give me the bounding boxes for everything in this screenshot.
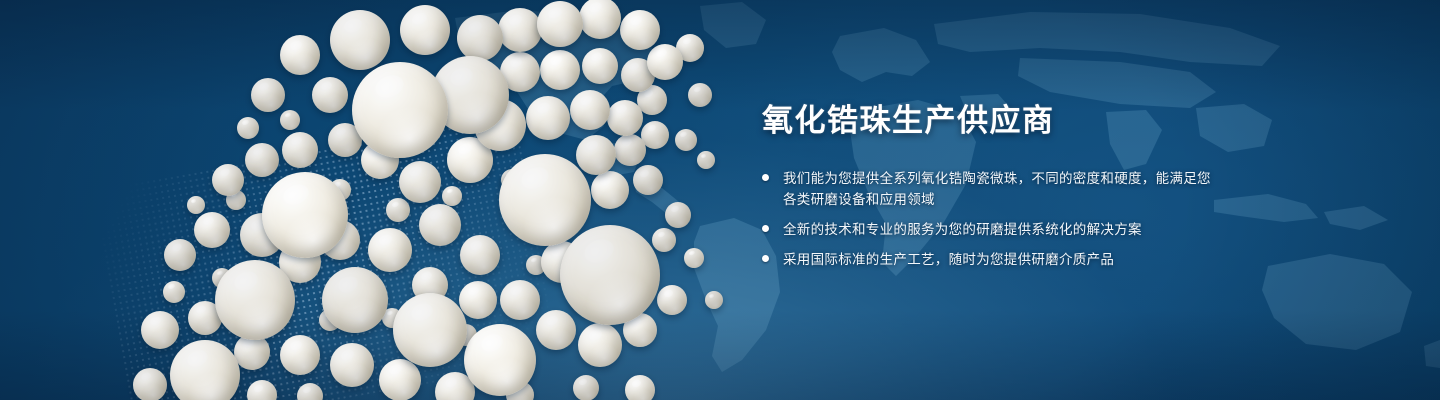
bead <box>657 285 687 315</box>
bead <box>329 179 351 201</box>
bead <box>526 255 546 275</box>
bead <box>280 110 300 130</box>
bead <box>506 381 534 400</box>
bead <box>163 281 185 303</box>
bead <box>637 85 667 115</box>
bead <box>237 117 259 139</box>
bead <box>621 58 655 92</box>
bead <box>625 375 655 400</box>
top-shade-overlay <box>0 0 1440 110</box>
bead <box>526 96 570 140</box>
feature-list: 我们能为您提供全系列氧化锆陶瓷微珠，不同的密度和硬度，能满足您各类研磨设备和应用… <box>762 168 1322 270</box>
bead <box>457 15 503 61</box>
bead <box>379 359 421 400</box>
bead <box>560 225 660 325</box>
bullet-dot-icon <box>762 255 769 262</box>
bead <box>500 280 540 320</box>
bead <box>280 335 320 375</box>
bead <box>297 383 323 400</box>
bead <box>319 309 341 331</box>
bead <box>399 161 441 203</box>
bead <box>393 293 467 367</box>
bead <box>133 368 167 400</box>
bead <box>212 164 244 196</box>
bead <box>400 5 450 55</box>
bead <box>536 310 576 350</box>
bead <box>578 323 622 367</box>
bead <box>455 324 477 346</box>
list-item: 我们能为您提供全系列氧化锆陶瓷微珠，不同的密度和硬度，能满足您各类研磨设备和应用… <box>762 168 1322 210</box>
bead <box>141 311 179 349</box>
bead <box>570 90 610 130</box>
bead <box>540 50 580 90</box>
bead <box>382 308 402 328</box>
bead <box>240 213 284 257</box>
bead <box>245 143 279 177</box>
bead <box>447 137 493 183</box>
bead <box>330 343 374 387</box>
bead <box>464 324 536 396</box>
list-item-text: 采用国际标准的生产工艺，随时为您提供研磨介质产品 <box>783 249 1114 270</box>
list-item-text: 我们能为您提供全系列氧化锆陶瓷微珠，不同的密度和硬度，能满足您各类研磨设备和应用… <box>783 168 1213 210</box>
bead <box>541 241 583 283</box>
bead <box>442 186 462 206</box>
bead <box>647 44 683 80</box>
bead <box>320 220 360 260</box>
bead <box>688 83 712 107</box>
bead <box>330 10 390 70</box>
banner-copy: 氧化锆珠生产供应商 我们能为您提供全系列氧化锆陶瓷微珠，不同的密度和硬度，能满足… <box>762 104 1322 279</box>
bead <box>262 172 348 258</box>
bead <box>499 154 591 246</box>
hero-banner: 氧化锆珠生产供应商 我们能为您提供全系列氧化锆陶瓷微珠，不同的密度和硬度，能满足… <box>0 0 1440 400</box>
page-title: 氧化锆珠生产供应商 <box>762 104 1322 138</box>
bead <box>312 77 348 113</box>
bead <box>352 62 448 158</box>
bead <box>280 35 320 75</box>
bead <box>361 141 399 179</box>
bead <box>500 52 540 92</box>
bead <box>501 169 523 191</box>
bead <box>697 151 715 169</box>
bead <box>164 239 196 271</box>
bead <box>215 260 295 340</box>
bead <box>188 301 222 335</box>
bead <box>459 281 497 319</box>
bead <box>641 121 669 149</box>
bead <box>322 267 388 333</box>
bead <box>187 196 205 214</box>
bead <box>435 372 475 400</box>
halftone-dot-texture <box>92 115 559 400</box>
bead <box>665 202 691 228</box>
bead <box>675 129 697 151</box>
bead <box>579 0 621 39</box>
bead <box>212 268 232 288</box>
bead <box>386 198 410 222</box>
bead <box>607 100 643 136</box>
bead <box>582 48 618 84</box>
bead <box>460 235 500 275</box>
bottom-shade-overlay <box>0 310 1440 400</box>
list-item: 采用国际标准的生产工艺，随时为您提供研磨介质产品 <box>762 249 1322 270</box>
bead <box>474 99 526 151</box>
bead <box>705 291 723 309</box>
bead <box>328 123 362 157</box>
bead <box>591 171 629 209</box>
bead <box>412 267 448 303</box>
zirconia-beads-image <box>0 0 760 400</box>
bead <box>251 78 285 112</box>
bead <box>431 56 509 134</box>
bead <box>620 10 660 50</box>
bead <box>368 228 412 272</box>
bead <box>633 165 663 195</box>
bead <box>194 212 230 248</box>
bullet-dot-icon <box>762 174 769 181</box>
bead <box>279 241 321 283</box>
bead <box>576 135 616 175</box>
bead <box>573 375 599 400</box>
bead <box>170 340 240 400</box>
bead <box>226 190 246 210</box>
bead <box>247 380 277 400</box>
bead <box>652 228 676 252</box>
list-item-text: 全新的技术和专业的服务为您的研磨提供系统化的解决方案 <box>783 219 1142 240</box>
bead <box>684 248 704 268</box>
bead <box>419 204 461 246</box>
bead <box>282 132 318 168</box>
bullet-dot-icon <box>762 225 769 232</box>
bead <box>623 313 657 347</box>
bead <box>676 34 704 62</box>
bead <box>537 1 583 47</box>
bead <box>234 334 270 370</box>
bead <box>498 8 542 52</box>
bead <box>571 289 593 311</box>
bead <box>614 134 646 166</box>
list-item: 全新的技术和专业的服务为您的研磨提供系统化的解决方案 <box>762 219 1322 240</box>
